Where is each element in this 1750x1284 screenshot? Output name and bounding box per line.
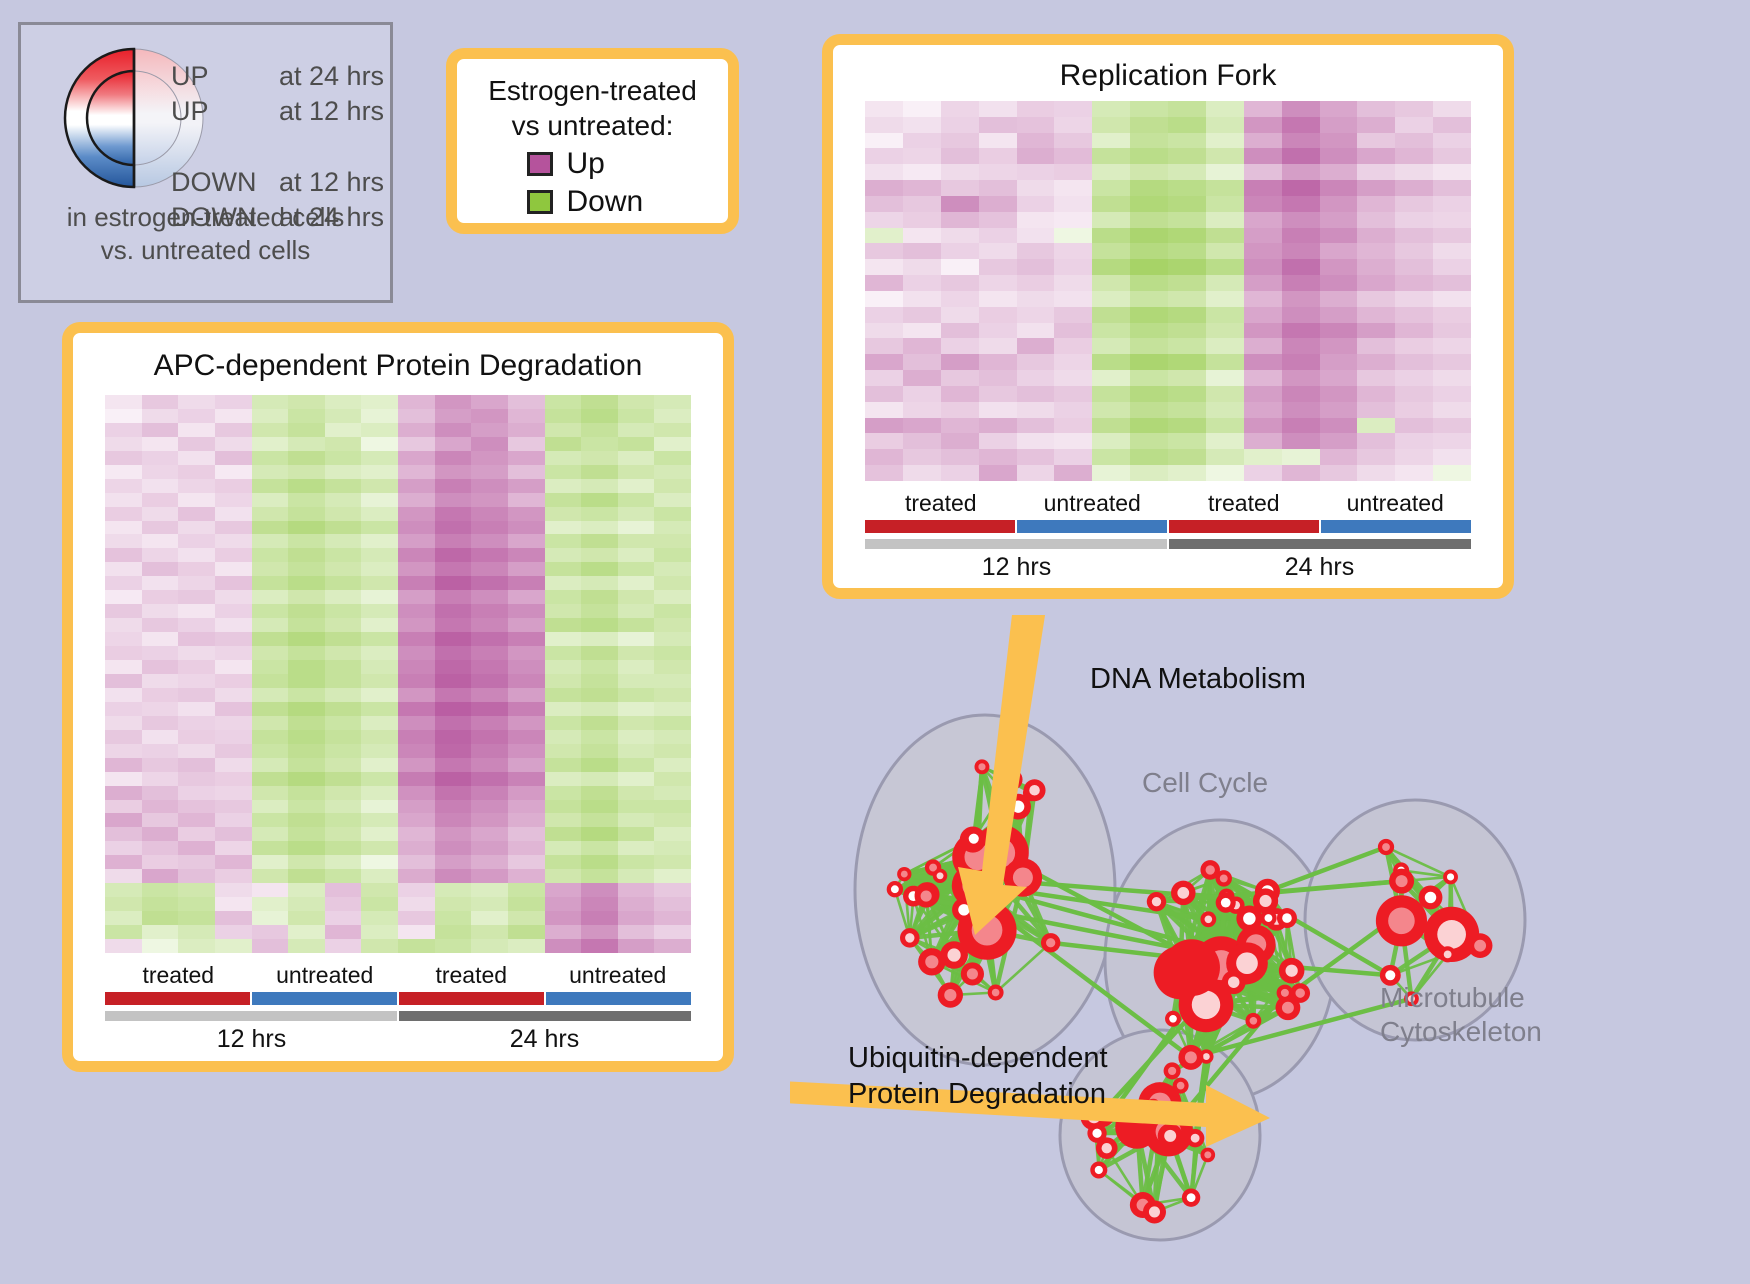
heatmap-cell	[865, 433, 903, 449]
heatmap-cell	[545, 479, 582, 493]
heatmap-cell	[288, 604, 325, 618]
heatmap-cell	[1282, 386, 1320, 402]
heatmap-cell	[581, 744, 618, 758]
heatmap-cell	[215, 562, 252, 576]
heatmap-cell	[325, 548, 362, 562]
heatmap-cell	[1320, 386, 1358, 402]
heatmap-cell	[1130, 180, 1168, 196]
heatmap-cell	[545, 521, 582, 535]
network-node[interactable]	[1164, 1062, 1181, 1079]
heatmap-cell	[903, 148, 941, 164]
heatmap-cell	[178, 660, 215, 674]
heatmap-cell	[1433, 386, 1471, 402]
heatmap-cell	[1168, 354, 1206, 370]
heatmap-cell	[1433, 418, 1471, 434]
heatmap-cell	[1395, 259, 1433, 275]
heatmap-cell	[215, 534, 252, 548]
heatmap-cell	[581, 660, 618, 674]
heatmap-cell	[1017, 196, 1055, 212]
heatmap-cell	[325, 437, 362, 451]
heatmap-cell	[1320, 228, 1358, 244]
heatmap-cell	[545, 534, 582, 548]
heatmap-cell	[979, 275, 1017, 291]
heatmap-cell	[1054, 101, 1092, 117]
network-node[interactable]	[1163, 939, 1220, 996]
heatmap-cell	[361, 646, 398, 660]
heatmap-cell	[654, 786, 691, 800]
heatmap-cell	[1054, 291, 1092, 307]
heatmap-cell	[654, 604, 691, 618]
heatmap-cell	[142, 841, 179, 855]
network-node[interactable]	[1253, 888, 1278, 913]
heatmap-cell	[142, 786, 179, 800]
network-node[interactable]	[974, 759, 989, 774]
heatmap-cell	[1282, 433, 1320, 449]
heatmap-cell	[105, 646, 142, 660]
cluster-label-cell-cycle: Cell Cycle	[1142, 767, 1268, 799]
network-node[interactable]	[1222, 970, 1246, 994]
network-node[interactable]	[933, 869, 947, 883]
heatmap-cell	[654, 423, 691, 437]
heatmap-cell	[941, 370, 979, 386]
heatmap-cell	[471, 479, 508, 493]
heatmap-cell	[1433, 259, 1471, 275]
heatmap-cell	[178, 507, 215, 521]
heatmap-cell	[1168, 291, 1206, 307]
heatmap-cell	[581, 548, 618, 562]
heatmap-cell	[1017, 402, 1055, 418]
heatmap-cell	[1017, 386, 1055, 402]
heatmap-cell	[618, 562, 655, 576]
heatmap-cell	[1054, 418, 1092, 434]
heatmap-cell	[325, 925, 362, 939]
heatmap-cell	[941, 101, 979, 117]
network-node[interactable]	[1041, 933, 1060, 952]
network-node[interactable]	[1201, 1148, 1216, 1163]
group-label-untreated-1: untreated	[252, 962, 399, 989]
heatmap-cell	[1092, 433, 1130, 449]
heatmap-cell	[1357, 386, 1395, 402]
heatmap-cell	[471, 744, 508, 758]
heatmap-cell	[435, 465, 472, 479]
heatmap-cell	[903, 418, 941, 434]
heatmap-cell	[508, 465, 545, 479]
heatmap-cell	[105, 827, 142, 841]
heatmap-cell	[471, 772, 508, 786]
heatmap-cell	[1130, 148, 1168, 164]
heatmap-cell	[618, 451, 655, 465]
apc-treatment-bars	[105, 992, 691, 1005]
heatmap-cell	[252, 939, 289, 953]
heatmap-cell	[1017, 465, 1055, 481]
heatmap-cell	[1320, 259, 1358, 275]
heatmap-cell	[1395, 418, 1433, 434]
heatmap-cell	[1395, 354, 1433, 370]
heatmap-cell	[903, 402, 941, 418]
heatmap-cell	[361, 772, 398, 786]
heatmap-cell	[288, 646, 325, 660]
legend-footer-line1: in estrogen-treated cells	[21, 201, 390, 234]
heatmap-cell	[178, 855, 215, 869]
heatmap-cell	[1282, 180, 1320, 196]
heatmap-cell	[325, 772, 362, 786]
network-node[interactable]	[897, 867, 911, 881]
heatmap-cell	[618, 813, 655, 827]
heatmap-cell	[979, 259, 1017, 275]
heatmap-cell	[1168, 323, 1206, 339]
heatmap-cell	[508, 688, 545, 702]
heatmap-cell	[398, 618, 435, 632]
heatmap-cell	[105, 548, 142, 562]
heatmap-cell	[654, 758, 691, 772]
network-node[interactable]	[1260, 910, 1276, 926]
heatmap-cell	[1395, 148, 1433, 164]
heatmap-cell	[545, 493, 582, 507]
treatment-bar-2	[399, 992, 544, 1005]
heatmap-cell	[105, 395, 142, 409]
heatmap-cell	[178, 688, 215, 702]
heatmap-cell	[1320, 338, 1358, 354]
heatmap-cell	[142, 744, 179, 758]
heatmap-cell	[435, 730, 472, 744]
network-node[interactable]	[1279, 958, 1305, 984]
heatmap-cell	[288, 813, 325, 827]
heatmap-cell	[471, 534, 508, 548]
network-node[interactable]	[1165, 1011, 1181, 1027]
heatmap-cell	[435, 423, 472, 437]
heatmap-cell	[1206, 291, 1244, 307]
heatmap-cell	[288, 493, 325, 507]
heatmap-cell	[618, 576, 655, 590]
heatmap-cell	[471, 855, 508, 869]
heatmap-cell	[325, 702, 362, 716]
heatmap-cell	[1092, 465, 1130, 481]
heatmap-cell	[361, 716, 398, 730]
heatmap-cell	[1282, 275, 1320, 291]
heatmap-cell	[105, 534, 142, 548]
heatmap-cell	[1433, 338, 1471, 354]
heatmap-cell	[618, 674, 655, 688]
network-node[interactable]	[918, 948, 945, 975]
heatmap-cell	[1244, 418, 1282, 434]
heatmap-cell	[581, 646, 618, 660]
heatmap-cell	[865, 164, 903, 180]
heatmap-cell	[178, 646, 215, 660]
heatmap-cell	[654, 855, 691, 869]
heatmap-cell	[215, 646, 252, 660]
heatmap-cell	[865, 117, 903, 133]
network-node[interactable]	[1376, 895, 1427, 946]
heatmap-cell	[618, 423, 655, 437]
heatmap-cell	[325, 521, 362, 535]
network-node[interactable]	[1216, 870, 1232, 886]
heatmap-cell	[252, 632, 289, 646]
heatmap-cell	[178, 479, 215, 493]
heatmap-cell	[471, 451, 508, 465]
network-node[interactable]	[900, 928, 920, 948]
network-node[interactable]	[1143, 1200, 1166, 1223]
heatmap-cell	[288, 758, 325, 772]
heatmap-cell	[865, 465, 903, 481]
heatmap-cell	[903, 101, 941, 117]
heatmap-cell	[654, 632, 691, 646]
heatmap-cell	[1395, 465, 1433, 481]
heatmap-cell	[1433, 323, 1471, 339]
heatmap-cell	[1357, 418, 1395, 434]
network-node[interactable]	[1147, 892, 1166, 911]
heatmap-cell	[398, 660, 435, 674]
heatmap-cell	[1395, 291, 1433, 307]
heatmap-cell	[1130, 386, 1168, 402]
network-node[interactable]	[1173, 1078, 1189, 1094]
heatmap-cell	[654, 883, 691, 897]
heatmap-cell	[1017, 323, 1055, 339]
network-node[interactable]	[1200, 911, 1216, 927]
heatmap-cell	[398, 813, 435, 827]
heatmap-cell	[398, 479, 435, 493]
heatmap-cell	[435, 562, 472, 576]
heatmap-cell	[325, 827, 362, 841]
heatmap-cell	[1395, 402, 1433, 418]
heatmap-cell	[1092, 133, 1130, 149]
heatmap-cell	[508, 841, 545, 855]
heatmap-cell	[215, 897, 252, 911]
heatmap-cell	[288, 744, 325, 758]
heatmap-cell	[903, 465, 941, 481]
heatmap-cell	[618, 465, 655, 479]
heatmap-cell	[508, 800, 545, 814]
network-node[interactable]	[961, 962, 984, 985]
heatmap-cell	[105, 702, 142, 716]
network-node[interactable]	[1290, 983, 1310, 1003]
heatmap-cell	[865, 243, 903, 259]
heatmap-cell	[865, 228, 903, 244]
heatmap-cell	[252, 716, 289, 730]
network-node[interactable]	[1087, 1124, 1106, 1143]
network-node[interactable]	[1468, 933, 1493, 958]
heatmap-cell	[508, 897, 545, 911]
heatmap-cell	[361, 869, 398, 883]
heatmap-cell	[1092, 196, 1130, 212]
network-node[interactable]	[1440, 946, 1456, 962]
heatmap-cell	[471, 730, 508, 744]
network-node[interactable]	[1158, 1123, 1183, 1148]
network-node[interactable]	[1378, 839, 1394, 855]
network-node[interactable]	[1443, 870, 1458, 885]
heatmap-cell	[398, 702, 435, 716]
time-bar-0	[105, 1011, 397, 1021]
heatmap-cell	[252, 521, 289, 535]
heatmap-cell	[1244, 133, 1282, 149]
network-node[interactable]	[938, 982, 963, 1007]
network-node[interactable]	[1277, 908, 1297, 928]
heatmap-cell	[252, 674, 289, 688]
heatmap-cell	[471, 911, 508, 925]
heatmap-cell	[581, 534, 618, 548]
heatmap-cell	[252, 548, 289, 562]
heatmap-cell	[1282, 465, 1320, 481]
heatmap-cell	[545, 590, 582, 604]
network-node[interactable]	[1171, 881, 1196, 906]
heatmap-cell	[361, 744, 398, 758]
heatmap-cell	[252, 576, 289, 590]
heatmap-cell	[1206, 196, 1244, 212]
heatmap-cell	[1054, 117, 1092, 133]
network-node[interactable]	[1178, 1045, 1203, 1070]
network-node[interactable]	[1419, 886, 1443, 910]
heatmap-cell	[398, 409, 435, 423]
heatmap-cell	[325, 660, 362, 674]
heatmap-cell	[252, 465, 289, 479]
heatmap-cell	[1168, 228, 1206, 244]
network-node[interactable]	[1090, 1161, 1107, 1178]
network-node[interactable]	[1389, 869, 1414, 894]
legend-row-up-12: UPat 12 hrs	[171, 94, 401, 129]
heatmap-cell	[1168, 243, 1206, 259]
heatmap-cell	[581, 772, 618, 786]
heatmap-cell	[545, 409, 582, 423]
heatmap-cell	[1320, 180, 1358, 196]
heatmap-cell	[654, 493, 691, 507]
heatmap-cell	[288, 507, 325, 521]
heatmap-cell	[545, 702, 582, 716]
heatmap-cell	[178, 800, 215, 814]
heatmap-cell	[903, 180, 941, 196]
heatmap-cell	[941, 243, 979, 259]
heatmap-cell	[654, 646, 691, 660]
network-node[interactable]	[1245, 1013, 1261, 1029]
network-node[interactable]	[915, 885, 938, 908]
heatmap-cell	[508, 451, 545, 465]
heatmap-cell	[581, 786, 618, 800]
heatmap-cell	[1433, 164, 1471, 180]
heatmap-cell	[545, 688, 582, 702]
heatmap-cell	[941, 402, 979, 418]
heatmap-cell	[215, 744, 252, 758]
heatmap-cell	[1320, 418, 1358, 434]
heatmap-cell	[654, 744, 691, 758]
up-label: Up	[567, 147, 659, 181]
heatmap-cell	[1320, 465, 1358, 481]
heatmap-cell	[252, 841, 289, 855]
heatmap-cell	[654, 534, 691, 548]
heatmap-cell	[1054, 180, 1092, 196]
heatmap-cell	[398, 548, 435, 562]
heatmap-cell	[1092, 370, 1130, 386]
heatmap-cell	[1282, 291, 1320, 307]
heatmap-cell	[142, 869, 179, 883]
heatmap-cell	[105, 451, 142, 465]
heatmap-cell	[288, 548, 325, 562]
heatmap-cell	[1206, 323, 1244, 339]
heatmap-cell	[1130, 212, 1168, 228]
heatmap-cell	[1130, 338, 1168, 354]
heatmap-cell	[1244, 196, 1282, 212]
network-node[interactable]	[963, 828, 984, 849]
apc-degradation-title: APC-dependent Protein Degradation	[73, 349, 723, 383]
heatmap-cell	[545, 423, 582, 437]
heatmap-cell	[398, 716, 435, 730]
heatmap-cell	[941, 386, 979, 402]
network-node[interactable]	[1186, 1129, 1204, 1147]
heatmap-cell	[1433, 133, 1471, 149]
replication-fork-time-bars	[865, 539, 1471, 549]
heatmap-cell	[508, 925, 545, 939]
network-node[interactable]	[1182, 1188, 1200, 1206]
heatmap-cell	[1244, 323, 1282, 339]
heatmap-cell	[252, 604, 289, 618]
heatmap-cell	[1206, 164, 1244, 180]
heatmap-cell	[1017, 228, 1055, 244]
heatmap-cell	[1206, 449, 1244, 465]
heatmap-cell	[581, 618, 618, 632]
heatmap-cell	[142, 423, 179, 437]
heatmap-cell	[288, 688, 325, 702]
heatmap-cell	[941, 164, 979, 180]
heatmap-cell	[142, 618, 179, 632]
heatmap-cell	[471, 827, 508, 841]
heatmap-cell	[178, 716, 215, 730]
heatmap-cell	[471, 800, 508, 814]
heatmap-cell	[1168, 418, 1206, 434]
network-node[interactable]	[1216, 893, 1236, 913]
heatmap-cell	[361, 507, 398, 521]
heatmap-cell	[142, 534, 179, 548]
heatmap-cell	[288, 925, 325, 939]
heatmap-cell	[581, 507, 618, 521]
heatmap-cell	[1357, 228, 1395, 244]
heatmap-cell	[1395, 323, 1433, 339]
heatmap-cell	[325, 883, 362, 897]
heatmap-cell	[1433, 148, 1471, 164]
heatmap-cell	[361, 465, 398, 479]
heatmap-cell	[1168, 402, 1206, 418]
cluster-label-microtubule-cytoskeleton: Microtubule Cytoskeleton	[1380, 981, 1542, 1049]
heatmap-cell	[361, 841, 398, 855]
heatmap-cell	[398, 674, 435, 688]
heatmap-cell	[1320, 101, 1358, 117]
heatmap-cell	[361, 562, 398, 576]
heatmap-cell	[325, 632, 362, 646]
heatmap-cell	[654, 730, 691, 744]
heatmap-cell	[508, 576, 545, 590]
heatmap-cell	[618, 702, 655, 716]
network-node[interactable]	[887, 881, 903, 897]
heatmap-cell	[435, 786, 472, 800]
heatmap-cell	[361, 590, 398, 604]
heatmap-cell	[1206, 402, 1244, 418]
heatmap-cell	[1433, 228, 1471, 244]
group-label-untreated-3: untreated	[545, 962, 692, 989]
heatmap-cell	[1206, 259, 1244, 275]
heatmap-cell	[435, 813, 472, 827]
heatmap-cell	[142, 800, 179, 814]
heatmap-cell	[618, 548, 655, 562]
heatmap-cell	[545, 883, 582, 897]
heatmap-cell	[581, 827, 618, 841]
heatmap-cell	[618, 911, 655, 925]
heatmap-cell	[1017, 148, 1055, 164]
heatmap-cell	[471, 660, 508, 674]
heatmap-cell	[215, 716, 252, 730]
network-node[interactable]	[988, 985, 1004, 1001]
heatmap-cell	[1130, 433, 1168, 449]
heatmap-cell	[178, 465, 215, 479]
heatmap-cell	[142, 772, 179, 786]
heatmap-cell	[618, 604, 655, 618]
time-bar-0	[865, 539, 1167, 549]
heatmap-cell	[508, 423, 545, 437]
